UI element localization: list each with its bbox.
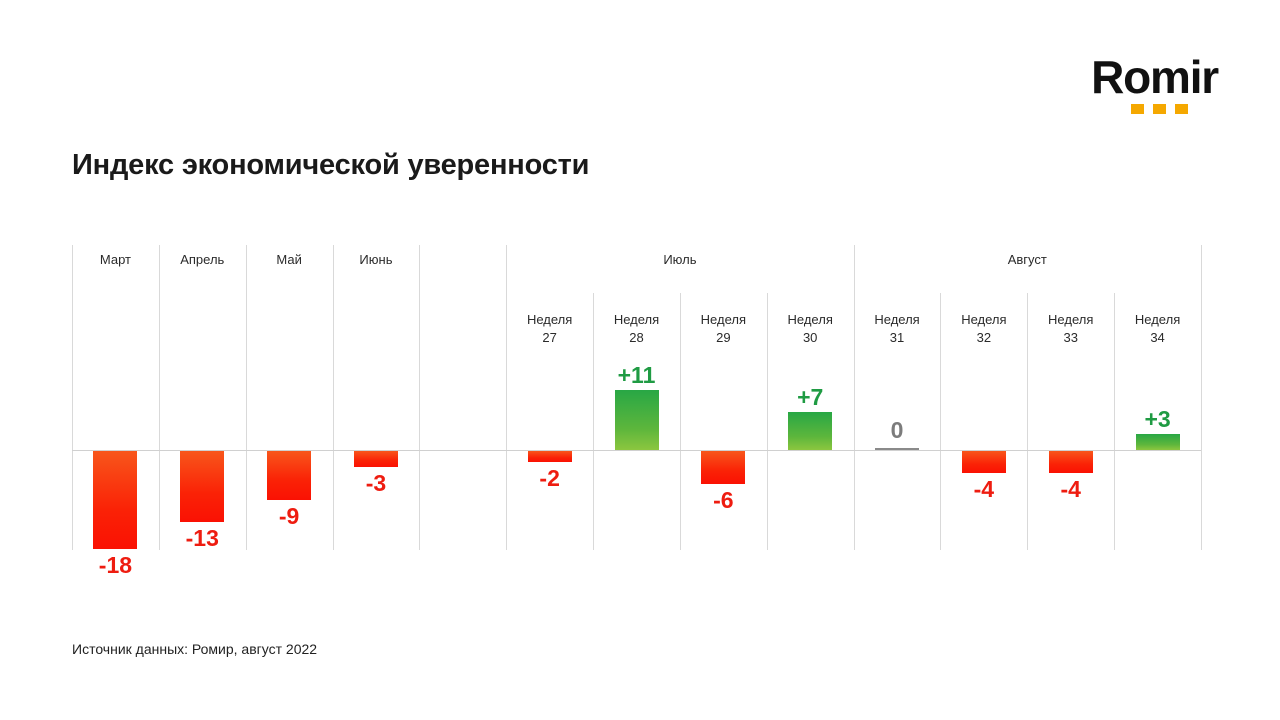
week-label: Неделя29 <box>680 311 767 347</box>
month-group-label: Июль <box>506 252 853 268</box>
month-group-label: Март <box>72 252 159 268</box>
bar-value-label: +3 <box>1114 406 1201 432</box>
week-label: Неделя34 <box>1114 311 1201 347</box>
logo-wordmark: Romir <box>1058 52 1218 102</box>
zero-baseline <box>72 450 1201 451</box>
week-separator <box>1027 293 1028 550</box>
week-label: Неделя31 <box>854 311 941 347</box>
source-note: Источник данных: Ромир, август 2022 <box>72 641 317 657</box>
week-label-line1: Неделя <box>506 311 593 329</box>
group-separator <box>419 245 420 550</box>
group-separator <box>854 245 855 550</box>
week-label-line2: 31 <box>854 329 941 347</box>
bar-week-32 <box>962 451 1006 473</box>
economic-confidence-bar-chart: МартАпрельМайИюньИюльАвгуст Неделя27Неде… <box>72 245 1201 550</box>
bar-value-label: +11 <box>593 362 680 388</box>
bar-июнь <box>354 451 398 467</box>
week-label: Неделя27 <box>506 311 593 347</box>
bar-value-label: -2 <box>506 465 593 491</box>
week-label: Неделя32 <box>940 311 1027 347</box>
bar-value-label: -9 <box>246 503 333 529</box>
week-label-line1: Неделя <box>593 311 680 329</box>
month-group-label: Май <box>246 252 333 268</box>
bar-value-label: -13 <box>159 525 246 551</box>
group-separator <box>333 245 334 550</box>
week-separator <box>593 293 594 550</box>
bar-value-label: +7 <box>767 384 854 410</box>
page-title: Индекс экономической уверенности <box>72 149 589 182</box>
bar-value-label: -4 <box>940 476 1027 502</box>
bar-week-27 <box>528 451 572 462</box>
week-label-line1: Неделя <box>1114 311 1201 329</box>
bar-week-33 <box>1049 451 1093 473</box>
bar-value-label: -3 <box>333 470 420 496</box>
logo-dots <box>1131 104 1188 114</box>
logo-dot-3 <box>1175 104 1188 114</box>
logo-dot-2 <box>1153 104 1166 114</box>
bar-week-28 <box>615 390 659 450</box>
bar-week-31 <box>875 448 919 450</box>
group-separator <box>1201 245 1202 550</box>
month-group-label: Август <box>854 252 1201 268</box>
bar-март <box>93 451 137 549</box>
bar-week-30 <box>788 412 832 450</box>
week-label-line1: Неделя <box>680 311 767 329</box>
week-label-line2: 33 <box>1027 329 1114 347</box>
bar-value-label: -18 <box>72 552 159 578</box>
bar-апрель <box>180 451 224 522</box>
logo-dot-1 <box>1131 104 1144 114</box>
bar-май <box>267 451 311 500</box>
romir-logo: Romir <box>1058 52 1218 124</box>
bar-week-29 <box>701 451 745 484</box>
bar-value-label: -6 <box>680 487 767 513</box>
week-label-line1: Неделя <box>767 311 854 329</box>
bar-week-34 <box>1136 434 1180 450</box>
week-label: Неделя30 <box>767 311 854 347</box>
week-label-line2: 27 <box>506 329 593 347</box>
week-label-line2: 29 <box>680 329 767 347</box>
group-separator <box>72 245 73 550</box>
week-separator <box>767 293 768 550</box>
week-label-line1: Неделя <box>940 311 1027 329</box>
week-label: Неделя33 <box>1027 311 1114 347</box>
group-separator <box>159 245 160 550</box>
week-label-line1: Неделя <box>854 311 941 329</box>
week-label-line2: 28 <box>593 329 680 347</box>
week-label: Неделя28 <box>593 311 680 347</box>
month-group-label: Июнь <box>333 252 420 268</box>
week-label-line2: 30 <box>767 329 854 347</box>
bar-value-label: -4 <box>1027 476 1114 502</box>
week-label-line2: 32 <box>940 329 1027 347</box>
bar-value-label: 0 <box>854 417 941 443</box>
week-label-line1: Неделя <box>1027 311 1114 329</box>
week-label-line2: 34 <box>1114 329 1201 347</box>
group-separator <box>506 245 507 550</box>
month-group-label: Апрель <box>159 252 246 268</box>
